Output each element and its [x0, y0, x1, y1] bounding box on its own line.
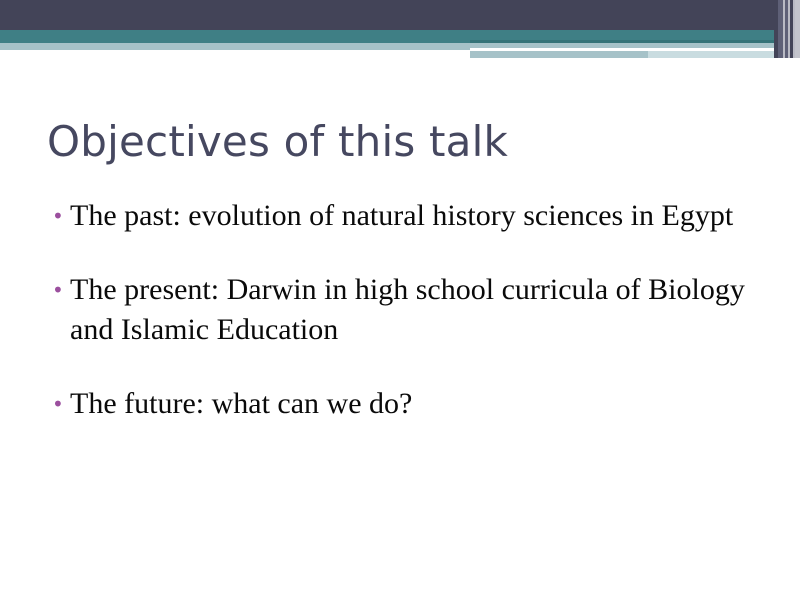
bullet-text: The future: what can we do?: [70, 384, 760, 424]
slide-bullet-list: • The past: evolution of natural history…: [48, 196, 760, 424]
list-item: • The past: evolution of natural history…: [48, 196, 760, 236]
bullet-dot-icon: •: [48, 196, 70, 236]
list-item: • The future: what can we do?: [48, 384, 760, 424]
bullet-text: The present: Darwin in high school curri…: [70, 270, 760, 350]
header-stripe-7: [795, 0, 800, 58]
bullet-dot-icon: •: [48, 384, 70, 424]
header-vertical-stripes: [774, 0, 800, 58]
bullet-dot-icon: •: [48, 270, 70, 310]
bullet-text: The past: evolution of natural history s…: [70, 196, 760, 236]
slide-title: Objectives of this talk: [47, 118, 747, 166]
presentation-slide: Objectives of this talk • The past: evol…: [0, 0, 800, 600]
header-dark-band: [0, 0, 800, 30]
list-item: • The present: Darwin in high school cur…: [48, 270, 760, 350]
header-light-band-left: [0, 43, 470, 50]
